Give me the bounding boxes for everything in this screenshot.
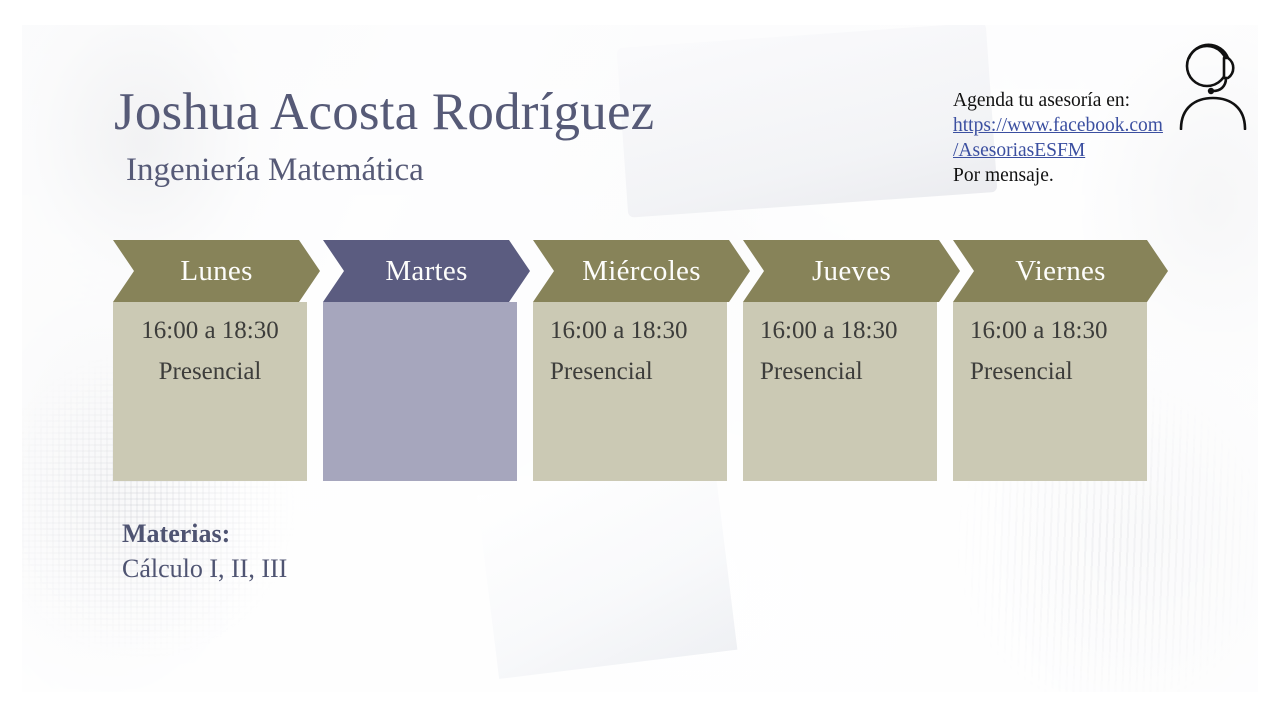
day-card-lunes[interactable]: 16:00 a 18:30 Presencial [113, 302, 307, 481]
weekly-schedule: Lunes 16:00 a 18:30 Presencial Martes Mi… [0, 0, 1280, 720]
day-time-viernes: 16:00 a 18:30 [970, 316, 1130, 346]
day-time-jueves: 16:00 a 18:30 [760, 316, 920, 346]
day-header-viernes[interactable]: Viernes [953, 240, 1168, 302]
slide-canvas: Joshua Acosta Rodríguez Ingeniería Matem… [0, 0, 1280, 720]
day-card-martes[interactable] [323, 302, 517, 481]
day-header-jueves[interactable]: Jueves [743, 240, 960, 302]
day-mode-miercoles: Presencial [550, 357, 710, 387]
day-card-viernes[interactable]: 16:00 a 18:30 Presencial [953, 302, 1147, 481]
day-label-martes: Martes [385, 257, 467, 286]
day-header-martes[interactable]: Martes [323, 240, 530, 302]
day-time-lunes: 16:00 a 18:30 [123, 316, 297, 346]
day-time-miercoles: 16:00 a 18:30 [550, 316, 710, 346]
day-header-miercoles[interactable]: Miércoles [533, 240, 750, 302]
day-mode-viernes: Presencial [970, 357, 1130, 387]
materias-block: Materias: Cálculo I, II, III [122, 516, 287, 586]
day-label-viernes: Viernes [1015, 257, 1106, 286]
day-label-miercoles: Miércoles [582, 257, 701, 286]
day-label-jueves: Jueves [812, 257, 891, 286]
day-card-miercoles[interactable]: 16:00 a 18:30 Presencial [533, 302, 727, 481]
materias-heading: Materias: [122, 516, 287, 551]
day-header-lunes[interactable]: Lunes [113, 240, 320, 302]
materias-list: Cálculo I, II, III [122, 551, 287, 586]
day-label-lunes: Lunes [180, 257, 252, 286]
day-card-jueves[interactable]: 16:00 a 18:30 Presencial [743, 302, 937, 481]
day-mode-jueves: Presencial [760, 357, 920, 387]
day-mode-lunes: Presencial [123, 357, 297, 387]
